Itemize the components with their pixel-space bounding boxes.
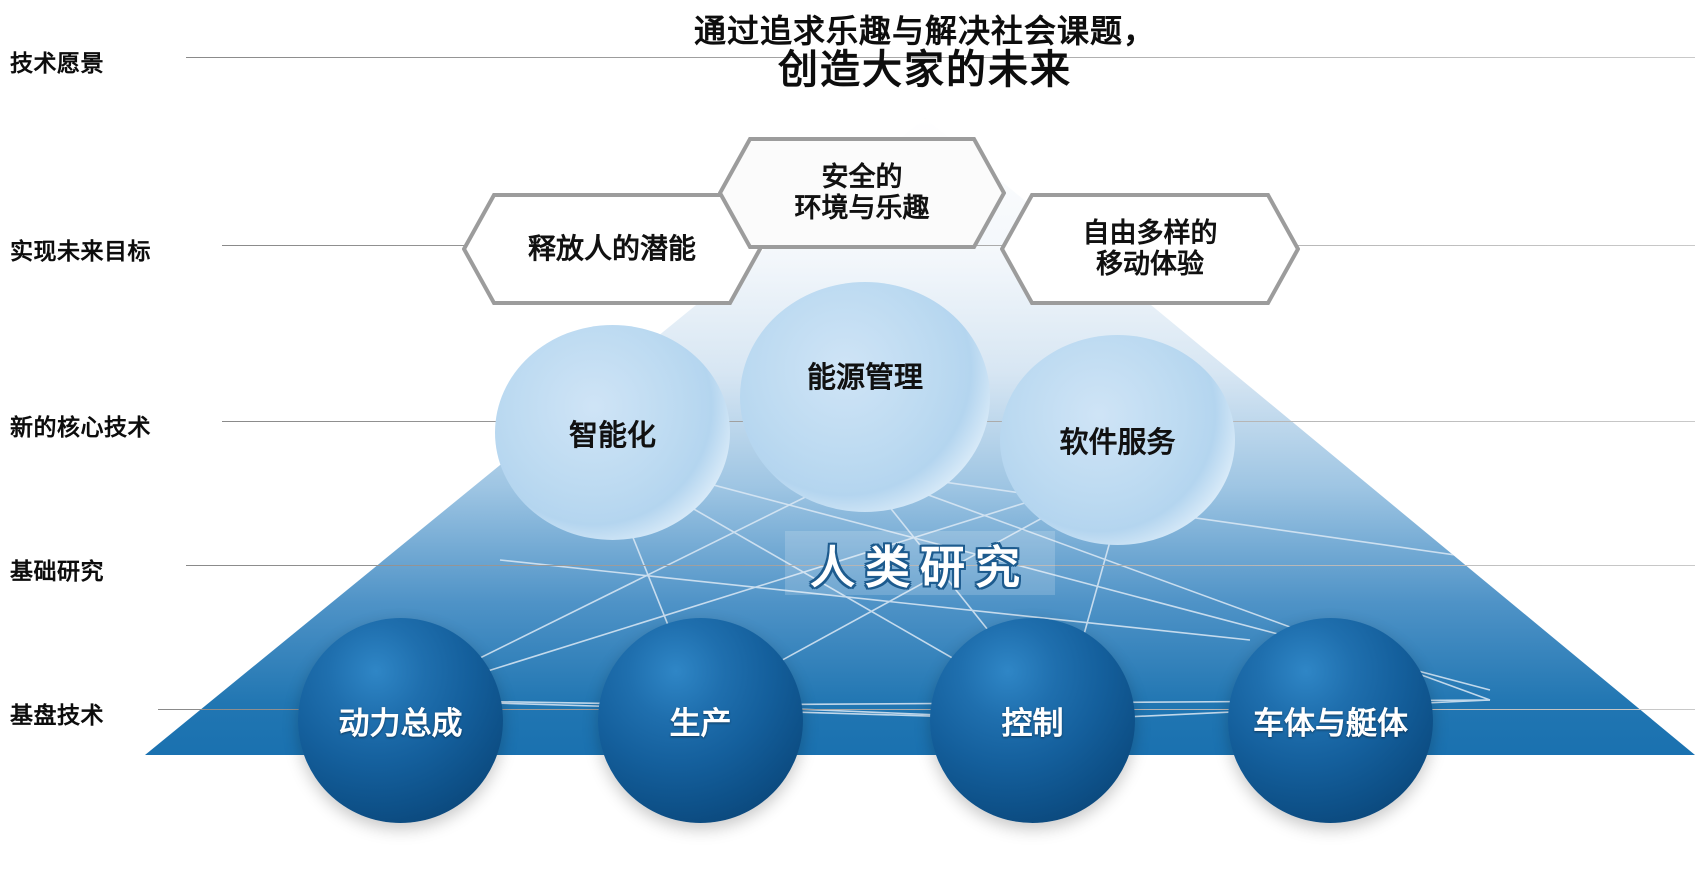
goal-hex-left[interactable]: 释放人的潜能 (462, 193, 762, 305)
goal-hex-left-label: 释放人的潜能 (520, 233, 704, 265)
axis-label-vision: 技术愿景 (10, 44, 104, 78)
base-tech-sphere-body-hull[interactable]: 车体与艇体 (1228, 618, 1433, 823)
goal-hex-center-line1: 安全的 (822, 162, 903, 192)
goal-hex-right-label: 自由多样的 移动体验 (1075, 218, 1226, 281)
goal-hex-right[interactable]: 自由多样的 移动体验 (1000, 193, 1300, 305)
foundation-label: 人类研究 (810, 531, 1030, 596)
goal-hex-center[interactable]: 安全的 环境与乐趣 (718, 137, 1006, 249)
goal-hex-center-line2: 环境与乐趣 (795, 193, 930, 223)
core-tech-label-energy: 能源管理 (807, 354, 923, 396)
goal-hex-center-label: 安全的 环境与乐趣 (787, 162, 938, 225)
title-line-1: 通过追求乐趣与解决社会课题， (545, 14, 1305, 49)
core-tech-circle-software[interactable]: 软件服务 (1000, 335, 1235, 545)
diagram-canvas: 技术愿景 实现未来目标 新的核心技术 基础研究 基盘技术 通过追求乐趣与解决社会… (0, 0, 1695, 886)
core-tech-label-intelligent: 智能化 (569, 412, 656, 454)
page-title: 通过追求乐趣与解决社会课题， 创造大家的未来 (545, 14, 1305, 92)
core-tech-label-software: 软件服务 (1059, 419, 1175, 461)
base-tech-sphere-control[interactable]: 控制 (930, 618, 1135, 823)
base-tech-label-body-hull: 车体与艇体 (1253, 698, 1408, 743)
base-tech-sphere-production[interactable]: 生产 (598, 618, 803, 823)
base-tech-label-control: 控制 (1002, 698, 1064, 743)
goal-hex-right-line1: 自由多样的 (1083, 218, 1218, 248)
core-tech-circle-intelligent[interactable]: 智能化 (495, 325, 730, 540)
axis-label-future-goals: 实现未来目标 (10, 232, 151, 266)
foundation-band: 人类研究 (785, 531, 1055, 595)
base-tech-label-powertrain: 动力总成 (339, 698, 463, 743)
core-tech-circle-energy[interactable]: 能源管理 (740, 282, 990, 512)
goal-hex-right-line2: 移动体验 (1096, 249, 1204, 279)
title-line-2: 创造大家的未来 (545, 49, 1305, 92)
axis-label-basic-research: 基础研究 (10, 552, 104, 586)
base-tech-sphere-powertrain[interactable]: 动力总成 (298, 618, 503, 823)
axis-label-core-tech: 新的核心技术 (10, 408, 151, 442)
axis-label-base-tech: 基盘技术 (10, 696, 104, 730)
base-tech-label-production: 生产 (670, 698, 732, 743)
